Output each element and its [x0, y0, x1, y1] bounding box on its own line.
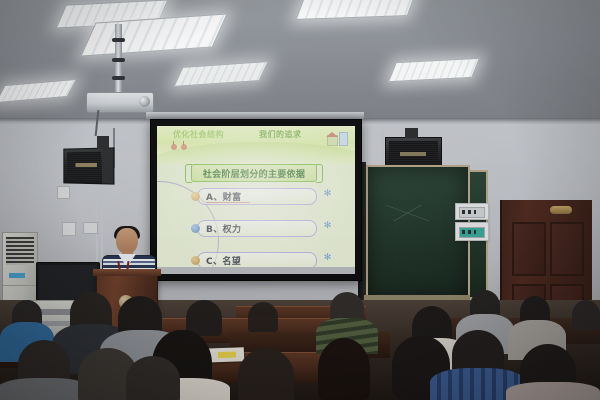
presentation-slide: 优化社会结构 我们的追求 社会阶层划分的主要依据 A、财富 ✻ B、权力 ✻ [157, 126, 355, 267]
panel-breakers [462, 210, 476, 214]
snowflake-icon: ✻ [323, 222, 332, 231]
wall-outlet [57, 186, 70, 199]
snowflake-icon: ✻ [323, 254, 332, 263]
speaker-side-panel [102, 148, 113, 183]
slide-option-c: C、名望 [197, 252, 317, 267]
audience-head [238, 348, 294, 400]
projector-mount-clamp [112, 38, 125, 42]
electrical-panel [455, 222, 489, 241]
house-icon [327, 135, 338, 146]
speaker-badge [400, 152, 426, 156]
ac-seam [3, 285, 37, 286]
screen-roller-housing [146, 112, 364, 119]
option-bullet-icon [191, 192, 200, 201]
screen-surface: 优化社会结构 我们的追求 社会阶层划分的主要依据 A、财富 ✻ B、权力 ✻ [157, 126, 355, 274]
wall-outlet [83, 222, 98, 234]
building-icon [339, 132, 348, 146]
projection-screen: 优化社会结构 我们的追求 社会阶层划分的主要依据 A、财富 ✻ B、权力 ✻ [150, 119, 362, 281]
option-c-label: C、名望 [206, 254, 241, 267]
audience-head [318, 338, 370, 400]
ladybug-icon [181, 144, 187, 150]
air-conditioner [2, 232, 38, 306]
panel-breakers [462, 230, 476, 234]
slide-option-b: B、权力 [197, 220, 317, 237]
slide-title-box: 社会阶层划分的主要依据 [191, 164, 317, 182]
ladybug-icon [171, 144, 177, 150]
option-bullet-icon [191, 256, 200, 265]
panel-window [459, 207, 485, 218]
left-speaker-bracket [97, 136, 109, 149]
audience-head [126, 356, 180, 400]
projector-lens [139, 96, 150, 107]
wall-outlet [62, 222, 76, 236]
slide-header-right: 我们的追求 [259, 129, 302, 140]
audience-body [506, 382, 600, 400]
chalk-marks [384, 205, 440, 221]
slide-option-a: A、财富 [197, 188, 317, 205]
electrical-panel [455, 203, 489, 220]
speaker-badge [75, 163, 96, 167]
projector-mount-clamp [112, 58, 125, 62]
door-panel [512, 222, 546, 276]
lectern-top [93, 269, 161, 276]
wall-cable [367, 128, 368, 166]
classroom-photo: 优化社会结构 我们的追求 社会阶层划分的主要依据 A、财富 ✻ B、权力 ✻ [0, 0, 600, 400]
audience-head [572, 300, 600, 330]
door-plaque [550, 206, 572, 214]
option-a-underline [206, 202, 250, 203]
screen-bottom-bar [157, 267, 355, 274]
yellow-marker [218, 352, 236, 359]
projector-mount-clamp [112, 76, 125, 80]
wall-cable [382, 130, 384, 170]
panel-window [459, 227, 485, 238]
door-panel [550, 222, 584, 276]
snowflake-icon: ✻ [323, 190, 332, 199]
ac-display [9, 273, 25, 278]
option-b-label: B、权力 [206, 222, 241, 235]
audience-head [248, 302, 278, 332]
slide-header-left: 优化社会结构 [173, 129, 224, 140]
right-speaker-bracket [405, 128, 418, 138]
slide-title: 社会阶层划分的主要依据 [203, 167, 305, 180]
option-bullet-icon [191, 224, 200, 233]
left-wall-speaker [63, 147, 114, 184]
ac-vent [6, 237, 34, 265]
